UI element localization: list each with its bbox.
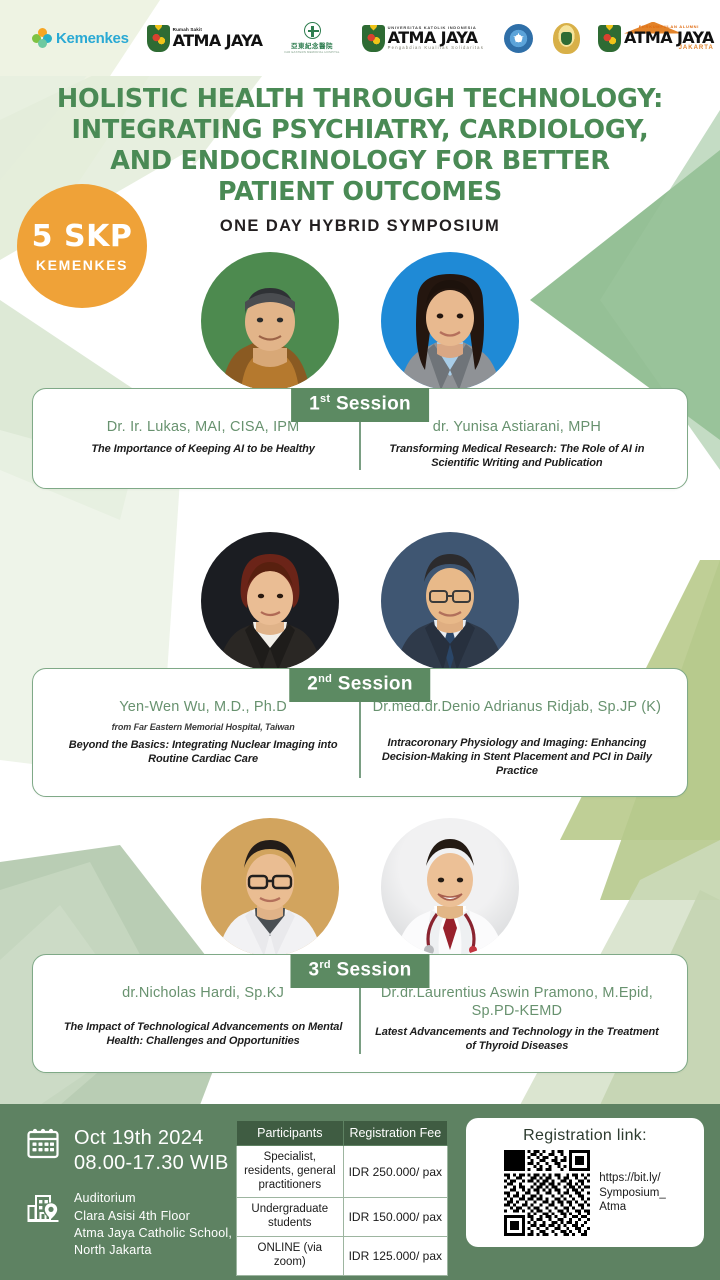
speaker-portrait-denio-ridjab (381, 532, 519, 670)
venue-line-1: Auditorium (74, 1190, 232, 1207)
skp-authority: KEMENKES (36, 257, 128, 273)
calendar-icon (26, 1126, 60, 1160)
event-time: 08.00-17.30 WIB (74, 1151, 229, 1176)
kemenkes-logo: Kemenkes (32, 28, 129, 48)
gold-seal-icon (553, 23, 580, 54)
footer-event-details: Oct 19th 2024 08.00-17.30 WIB (0, 1104, 236, 1273)
alumni-main-label: ATMA JAYA (624, 30, 714, 45)
speaker-portrait-nicholas-hardi (201, 818, 339, 956)
session-3: 3rd Session dr.Nicholas Hardi, Sp.KJ The… (0, 818, 720, 1073)
venue-line-4: North Jakarta (74, 1242, 232, 1259)
alumni-atma-jaya-shield-icon (598, 25, 621, 52)
table-row: ONLINE (via zoom) IDR 125.000/ pax (237, 1236, 448, 1275)
speaker-photo-denio-ridjab (381, 532, 519, 670)
session-1-speaker-1: Dr. Ir. Lukas, MAI, CISA, IPM The Import… (47, 415, 359, 472)
session-3-speaker-1: dr.Nicholas Hardi, Sp.KJ The Impact of T… (47, 981, 359, 1056)
event-date: Oct 19th 2024 (74, 1126, 229, 1151)
session-2-label: Session (338, 673, 413, 694)
kemenkes-logo-label: Kemenkes (56, 30, 129, 47)
session-1-tab: 1st Session (291, 388, 429, 422)
session-3-tab: 3rd Session (290, 954, 429, 988)
footer-venue-row: Auditorium Clara Asisi 4th Floor Atma Ja… (26, 1190, 236, 1259)
venue-line-3: Atma Jaya Catholic School, (74, 1225, 232, 1242)
far-eastern-memorial-hospital-logo: 亞東紀念醫院 FAR EASTERN MEMORIAL HOSPITAL (284, 22, 339, 54)
session-2: 2nd Session Yen-Wen Wu, M.D., Ph.D from … (0, 532, 720, 797)
speaker-topic: Beyond the Basics: Integrating Nuclear I… (57, 738, 349, 766)
speaker-name: Dr.dr.Laurentius Aswin Pramono, M.Epid, … (371, 985, 663, 1020)
speaker-portrait-aswin-pramono (381, 818, 519, 956)
session-2-tab: 2nd Session (289, 668, 430, 702)
session-2-number: 2 (307, 673, 318, 694)
session-2-photos (0, 532, 720, 670)
session-1-speaker-2: dr. Yunisa Astiarani, MPH Transforming M… (361, 415, 673, 472)
participant-type: Undergraduate students (237, 1198, 344, 1237)
session-1-ordinal: st (320, 393, 330, 405)
building-location-icon (26, 1190, 60, 1224)
feh-english-label: FAR EASTERN MEMORIAL HOSPITAL (284, 50, 339, 54)
kolegium-seal-logo (504, 24, 533, 53)
session-3-photos (0, 818, 720, 956)
speaker-photo-lukas (201, 252, 339, 390)
sponsor-logo-strip: Kemenkes Rumah Sakit ATMA JAYA 亞東紀念醫院 FA… (0, 0, 720, 76)
session-3-number: 3 (308, 959, 319, 980)
participant-fee: IDR 125.000/ pax (343, 1236, 447, 1275)
venue-line-2: Clara Asisi 4th Floor (74, 1208, 232, 1225)
rs-atma-jaya-logo: Rumah Sakit ATMA JAYA (147, 25, 263, 52)
col-registration-fee: Registration Fee (343, 1121, 447, 1146)
footer-bar: Oct 19th 2024 08.00-17.30 WIB (0, 1104, 720, 1280)
unika-tagline-label: Pengabdian Kualitas Solidaritas (388, 45, 484, 50)
registration-url-line-2: Symposium_ (599, 1186, 665, 1201)
table-header-row: Participants Registration Fee (237, 1121, 448, 1146)
table-row: Undergraduate students IDR 150.000/ pax (237, 1198, 448, 1237)
unika-main-label: ATMA JAYA (388, 30, 484, 45)
speaker-portrait-yenwen-wu (201, 532, 339, 670)
session-3-label: Session (337, 959, 412, 980)
registration-url-line-1: https://bit.ly/ (599, 1171, 665, 1186)
speaker-topic: Intracoronary Physiology and Imaging: En… (371, 736, 663, 778)
session-1-label: Session (336, 393, 411, 414)
registration-card[interactable]: Registration link: (466, 1118, 704, 1247)
col-participants: Participants (237, 1121, 344, 1146)
skp-value: 5 SKP (32, 219, 133, 254)
participant-type: Specialist, residents, general practitio… (237, 1146, 344, 1198)
table-row: Specialist, residents, general practitio… (237, 1146, 448, 1198)
participant-type: ONLINE (via zoom) (237, 1236, 344, 1275)
registration-fee-table-wrap: Participants Registration Fee Specialist… (236, 1104, 448, 1276)
atma-jaya-shield-icon (147, 25, 170, 52)
speaker-topic: The Impact of Technological Advancements… (57, 1020, 349, 1048)
registration-link-section: Registration link: (448, 1104, 720, 1247)
speaker-photo-yunisa (381, 252, 519, 390)
hospital-cross-icon (304, 22, 321, 39)
registration-fee-table: Participants Registration Fee Specialist… (236, 1120, 448, 1276)
session-3-speaker-2: Dr.dr.Laurentius Aswin Pramono, M.Epid, … (361, 981, 673, 1056)
feh-chinese-label: 亞東紀念醫院 (291, 40, 333, 50)
skp-badge: 5 SKP KEMENKES (17, 184, 147, 308)
speaker-photo-nicholas-hardi (201, 818, 339, 956)
speaker-topic: The Importance of Keeping AI to be Healt… (57, 442, 349, 456)
session-2-speaker-1: Yen-Wen Wu, M.D., Ph.D from Far Eastern … (47, 695, 359, 780)
speaker-photo-aswin-pramono (381, 818, 519, 956)
session-2-ordinal: nd (318, 673, 332, 685)
session-2-speaker-2: Dr.med.dr.Denio Adrianus Ridjab, Sp.JP (… (361, 695, 673, 780)
speaker-affiliation: from Far Eastern Memorial Hospital, Taiw… (57, 722, 349, 732)
registration-link-title: Registration link: (523, 1127, 647, 1145)
alumni-city-label: JAKARTA (624, 45, 714, 51)
rs-atma-jaya-main-label: ATMA JAYA (173, 33, 263, 48)
unika-atma-jaya-shield-icon (362, 25, 385, 52)
participant-fee: IDR 150.000/ pax (343, 1198, 447, 1237)
gold-seal-logo (553, 23, 580, 54)
footer-date-row: Oct 19th 2024 08.00-17.30 WIB (26, 1126, 236, 1176)
participant-fee: IDR 250.000/ pax (343, 1146, 447, 1198)
speaker-portrait-yunisa (381, 252, 519, 390)
event-poster: Kemenkes Rumah Sakit ATMA JAYA 亞東紀念醫院 FA… (0, 0, 720, 1280)
perkumpulan-alumni-atma-jaya-jakarta-logo: PERKUMPULAN ALUMNI ATMA JAYA JAKARTA (598, 25, 714, 52)
speaker-topic: Transforming Medical Research: The Role … (371, 442, 663, 470)
registration-url-line-3: Atma (599, 1200, 665, 1215)
session-1-number: 1 (309, 393, 320, 414)
qr-code-icon[interactable] (504, 1150, 590, 1236)
kemenkes-flower-icon (32, 28, 52, 48)
speaker-portrait-lukas (201, 252, 339, 390)
session-3-ordinal: rd (319, 959, 331, 971)
speaker-topic: Latest Advancements and Technology in th… (371, 1025, 663, 1053)
blue-seal-icon (504, 24, 533, 53)
speaker-photo-yenwen-wu (201, 532, 339, 670)
universitas-katolik-indonesia-atma-jaya-logo: UNIVERSITAS KATOLIK INDONESIA ATMA JAYA … (362, 25, 484, 52)
